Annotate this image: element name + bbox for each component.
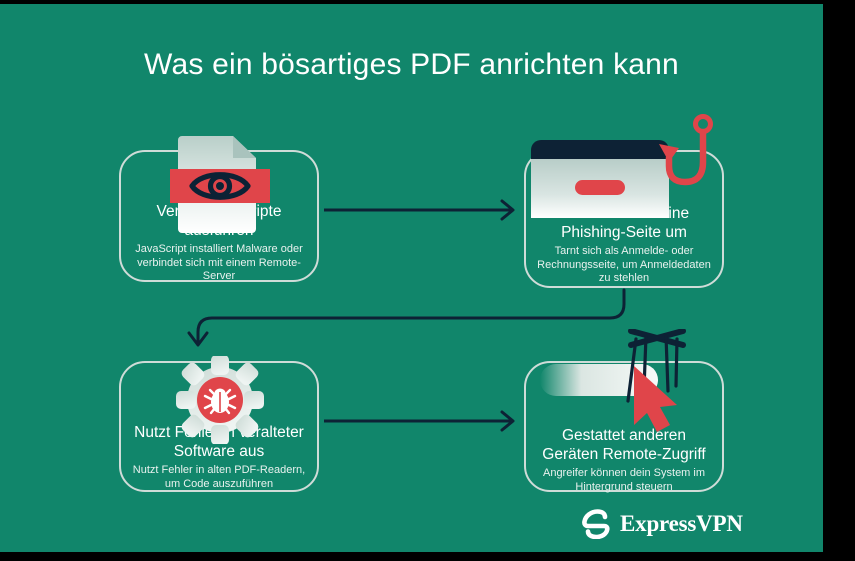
expressvpn-logo[interactable]: ExpressVPN [581, 507, 741, 541]
infographic-stage: Was ein bösartiges PDF anrichten kann Ve… [0, 0, 855, 561]
arrow-3-to-4 [324, 412, 513, 430]
fishing-hook-icon [655, 114, 725, 199]
card-outdated-software-subtext: Nutzt Fehler in alten PDF-Readern, um Co… [129, 464, 309, 491]
puppet-strings-cursor-icon [540, 329, 700, 434]
page-title: Was ein bösartiges PDF anrichten kann [0, 48, 823, 82]
card-remote-access-text: Gestattet anderen Geräten Remote-Zugriff… [526, 426, 722, 494]
gear-bug-icon [172, 356, 268, 444]
card-remote-access-subtext: Angreifer können dein System im Hintergr… [534, 467, 714, 494]
browser-window-icon [525, 138, 675, 218]
card-phishing-redirect-subtext: Tarnt sich als Anmelde- oder Rechnungsse… [534, 245, 714, 286]
card-hidden-scripts-subtext: JavaScript installiert Malware oder verb… [129, 243, 309, 284]
infographic-canvas: Was ein bösartiges PDF anrichten kann Ve… [0, 4, 823, 552]
arrow-1-to-2 [324, 201, 513, 219]
pdf-document-eye-icon [170, 130, 270, 235]
expressvpn-logo-mark [581, 509, 611, 539]
expressvpn-wordmark: ExpressVPN [620, 511, 743, 537]
